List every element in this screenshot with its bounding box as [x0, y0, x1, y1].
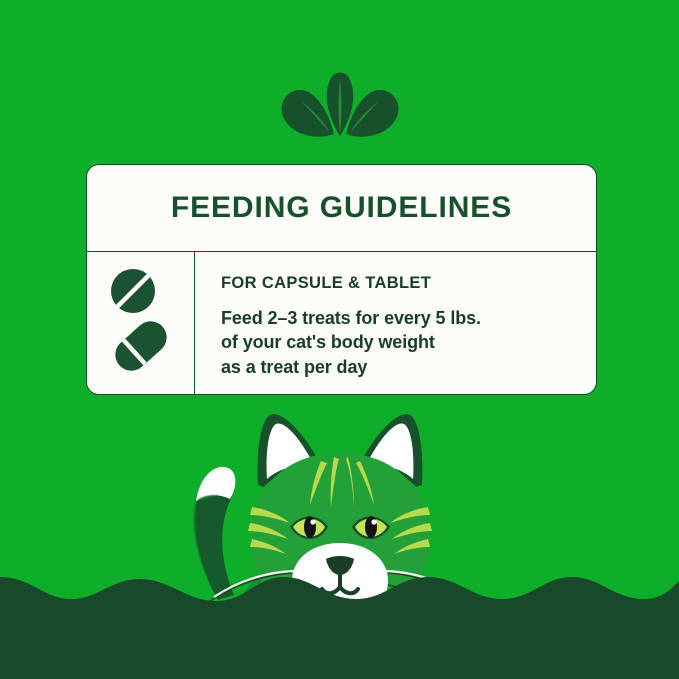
card-body: FOR CAPSULE & TABLET Feed 2–3 treats for…: [87, 252, 596, 395]
wavy-bottom-band: [0, 549, 679, 679]
card-icon-cell: [87, 252, 195, 395]
leaf-left: [282, 90, 334, 137]
instruction-line: Feed 2–3 treats for every 5 lbs.: [221, 306, 596, 330]
instruction-line: as a treat per day: [221, 355, 596, 379]
capsule-and-tablet-icon: [101, 266, 181, 378]
card-title-row: FEEDING GUIDELINES: [87, 165, 596, 252]
card-instructions: Feed 2–3 treats for every 5 lbs. of your…: [221, 306, 596, 379]
feeding-guidelines-card: FEEDING GUIDELINES: [86, 164, 597, 395]
leaf-right: [346, 90, 398, 137]
instruction-line: of your cat's body weight: [221, 330, 596, 354]
card-subhead: FOR CAPSULE & TABLET: [221, 274, 596, 293]
card-text-cell: FOR CAPSULE & TABLET Feed 2–3 treats for…: [195, 252, 596, 395]
tablet-icon: [111, 269, 155, 313]
page-title: FEEDING GUIDELINES: [171, 191, 512, 225]
three-leaves-icon: [272, 62, 408, 138]
capsule-icon: [109, 315, 174, 378]
packaging-panel: FEEDING GUIDELINES: [0, 0, 679, 679]
